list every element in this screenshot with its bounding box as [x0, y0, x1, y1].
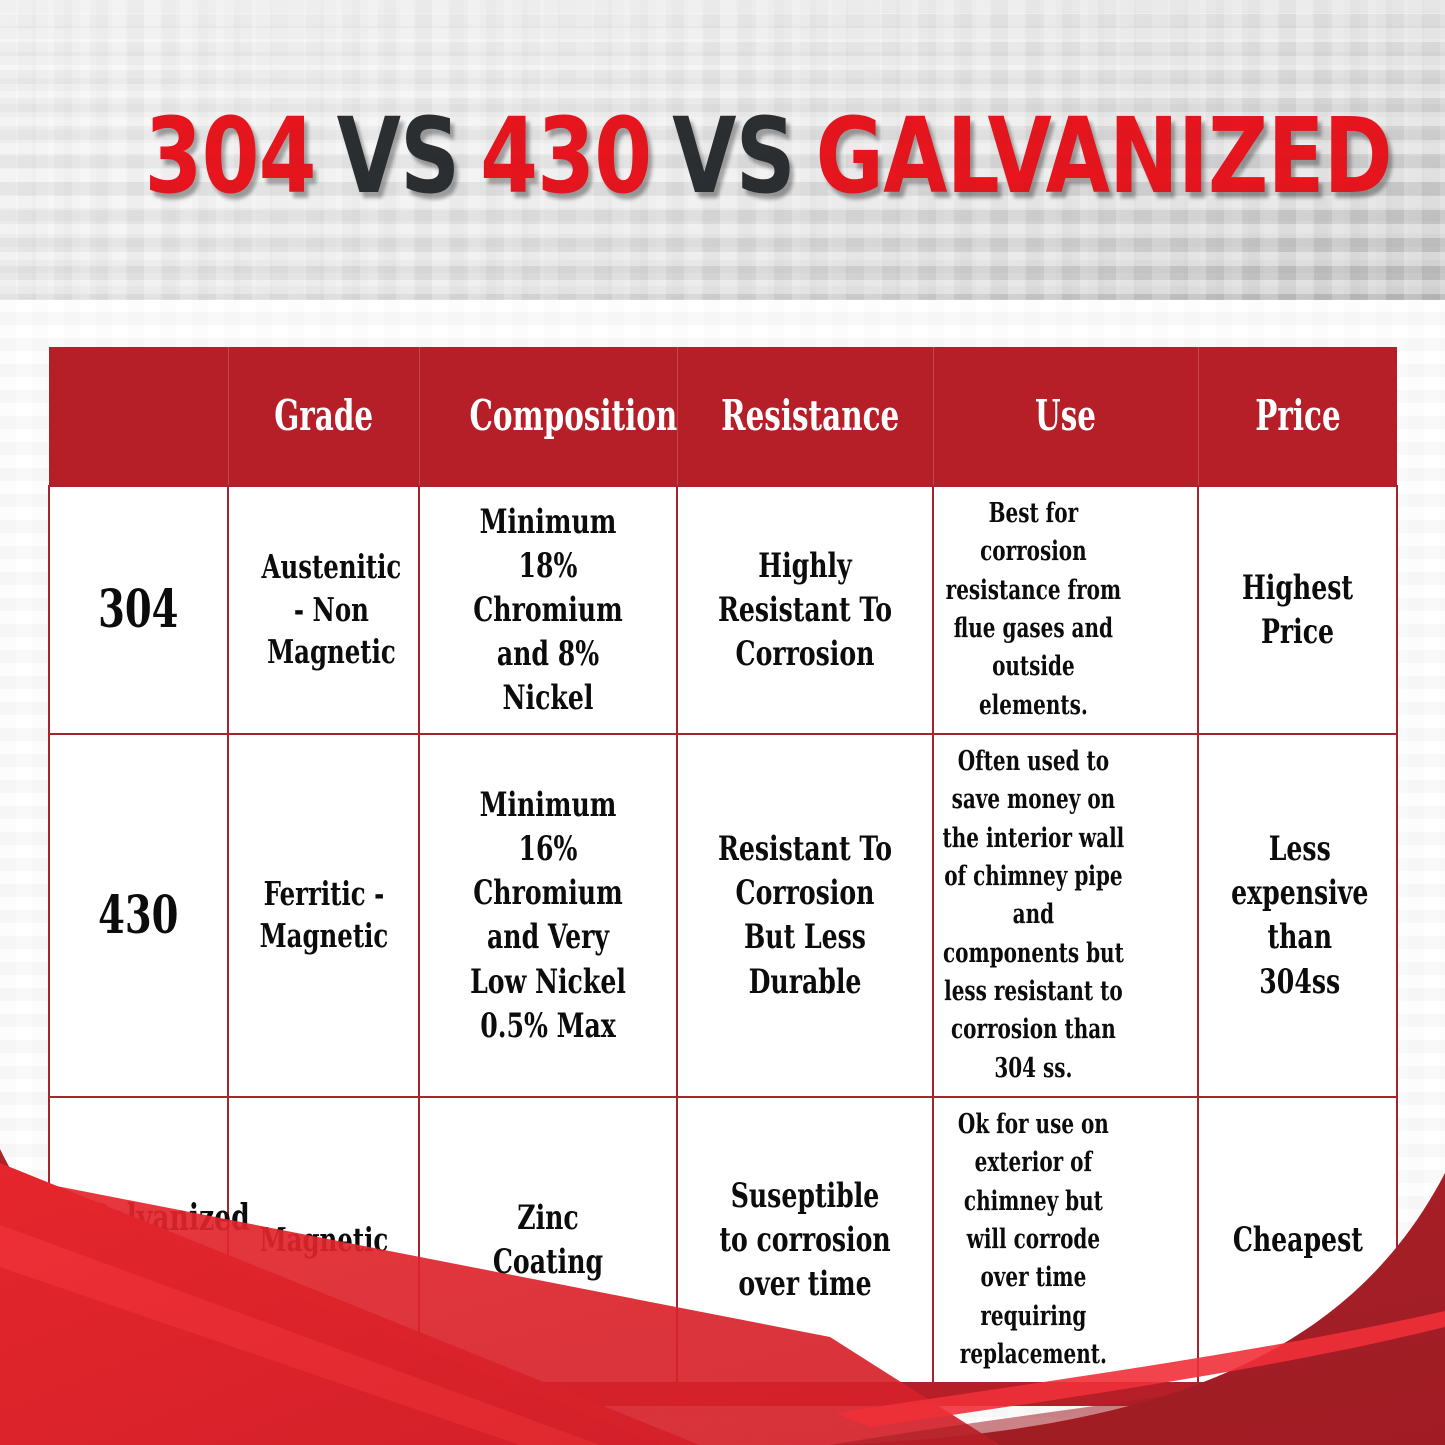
- cell-grade-430: Ferritic - Magnetic: [228, 734, 419, 1097]
- column-header-price: Price: [1198, 347, 1397, 486]
- table-header-row: Grade Composition Resistance Use Price: [49, 347, 1397, 486]
- cell-grade-304: Austenitic - Non Magnetic: [228, 486, 419, 734]
- column-header-composition: Composition: [419, 347, 677, 486]
- column-header-use: Use: [933, 347, 1198, 486]
- column-header-material: [49, 347, 228, 486]
- cell-composition-430: Minimum 16% Chromium and Very Low Nickel…: [419, 734, 677, 1097]
- cell-resistance-304: Highly Resistant To Corrosion: [677, 486, 933, 734]
- cell-material-304: 304: [49, 486, 228, 734]
- cell-composition-304: Minimum 18% Chromium and 8% Nickel: [419, 486, 677, 734]
- cell-use-304: Best for corrosion resistance from flue …: [933, 486, 1198, 734]
- title-part-304: 304: [145, 95, 316, 217]
- cell-resistance-430: Resistant To Corrosion But Less Durable: [677, 734, 933, 1097]
- table-header: Grade Composition Resistance Use Price: [49, 347, 1397, 486]
- page-title: 304VS430VSGALVANIZED: [145, 104, 1301, 208]
- cell-use-430: Often used to save money on the interior…: [933, 734, 1198, 1097]
- title-part-430: 430: [480, 95, 651, 217]
- title-vs-first: VS: [337, 95, 460, 217]
- title-part-galvanized: GALVANIZED: [816, 95, 1392, 217]
- bottom-decorative-swoosh: [0, 1115, 1445, 1445]
- table-row: 304 Austenitic - Non Magnetic Minimum 18…: [49, 486, 1397, 734]
- cell-price-430: Less expensive than 304ss: [1198, 734, 1397, 1097]
- cell-material-430: 430: [49, 734, 228, 1097]
- column-header-resistance: Resistance: [677, 347, 933, 486]
- table-row: 430 Ferritic - Magnetic Minimum 16% Chro…: [49, 734, 1397, 1097]
- column-header-grade: Grade: [228, 347, 419, 486]
- title-vs-second: VS: [672, 95, 795, 217]
- cell-price-304: Highest Price: [1198, 486, 1397, 734]
- infographic-canvas: 304VS430VSGALVANIZED Grade Composition R…: [0, 0, 1445, 1445]
